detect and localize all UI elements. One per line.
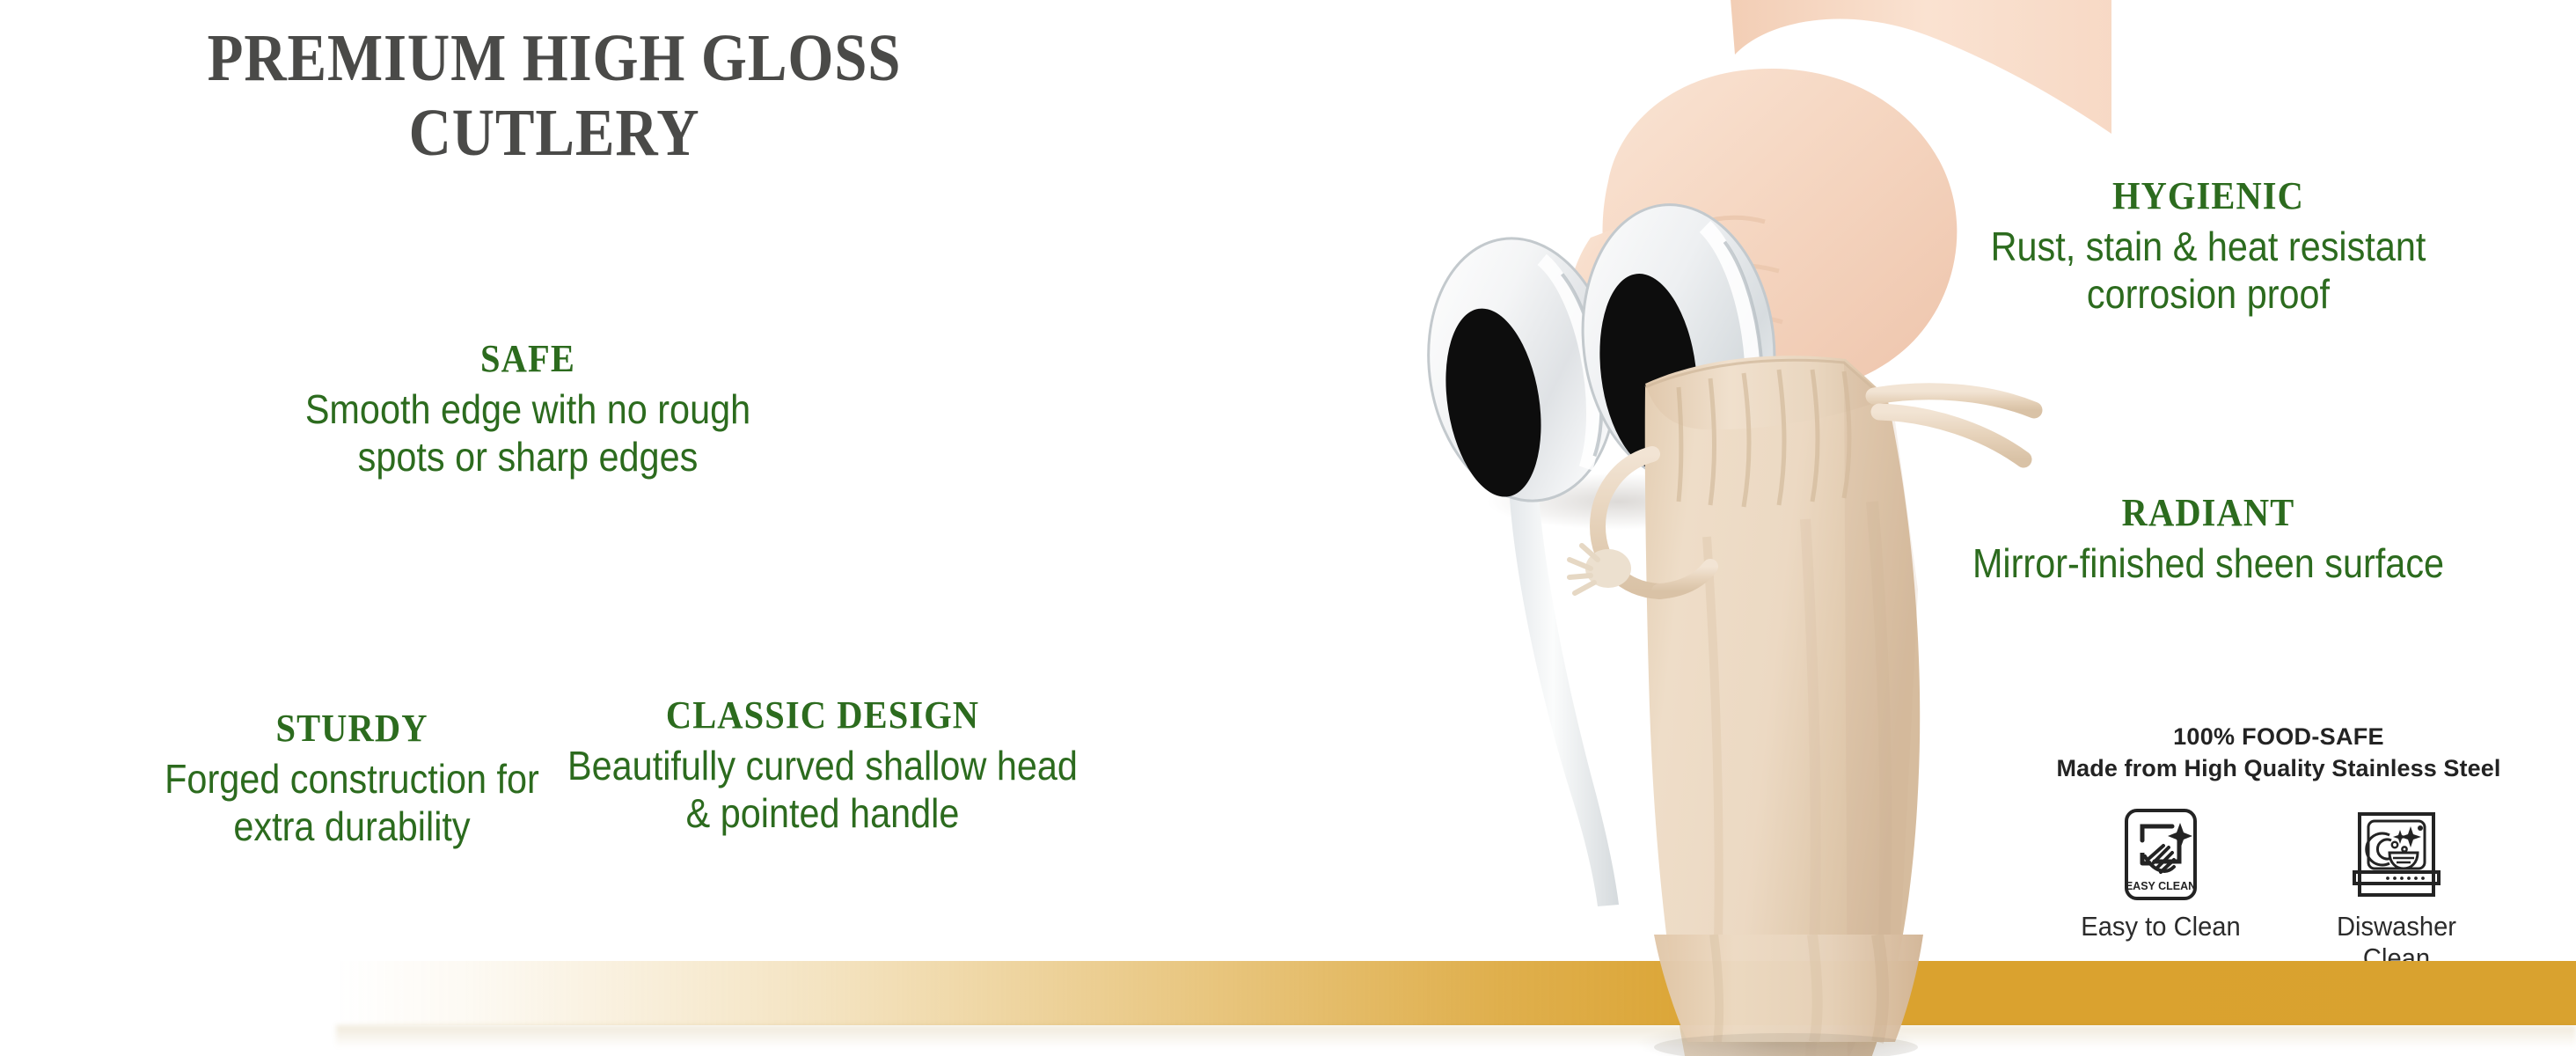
- easy-clean-icon: EASY CLEAN: [2073, 807, 2249, 902]
- food-safe-badge: 100% FOOD-SAFE Made from High Quality St…: [2015, 723, 2543, 974]
- feature-radiant-title: RADIANT: [1877, 493, 2540, 533]
- feature-radiant-body: Mirror-finished sheen surface: [1884, 540, 2533, 587]
- feature-hygienic-title: HYGIENIC: [1889, 176, 2528, 216]
- bottom-gold-band: [336, 961, 2576, 1025]
- easy-clean-icon-text: EASY CLEAN: [2126, 880, 2196, 892]
- feature-classic-design-title: CLASSIC DESIGN: [446, 695, 1199, 736]
- badge-item-easy-clean: EASY CLEAN Easy to Clean: [2073, 807, 2249, 974]
- feature-hygienic: HYGIENIC Rust, stain & heat resistant co…: [1861, 176, 2556, 318]
- feature-safe: SAFE Smooth edge with no rough spots or …: [211, 339, 845, 480]
- badge-label-easy-clean: Easy to Clean: [2078, 911, 2243, 942]
- bottom-gold-band-shadow: [336, 1025, 2576, 1048]
- feature-safe-title: SAFE: [237, 339, 819, 379]
- feature-classic-design: CLASSIC DESIGN Beautifully curved shallo…: [413, 695, 1232, 837]
- badge-headline: 100% FOOD-SAFE: [2015, 723, 2543, 751]
- feature-classic-design-body: Beautifully curved shallow head & pointe…: [455, 743, 1191, 837]
- badge-icon-row: EASY CLEAN Easy to Clean: [2015, 807, 2543, 974]
- feature-safe-body: Smooth edge with no rough spots or sharp…: [243, 386, 813, 480]
- feature-radiant: RADIANT Mirror-finished sheen surface: [1848, 493, 2569, 588]
- infographic-canvas: PREMIUM HIGH GLOSS CUTLERY: [0, 0, 2576, 1056]
- badge-subheadline: Made from High Quality Stainless Steel: [2015, 755, 2543, 782]
- feature-hygienic-body: Rust, stain & heat resistant corrosion p…: [1896, 224, 2521, 318]
- dishwasher-clean-icon: [2309, 807, 2485, 902]
- badge-item-dishwasher-clean: Diswasher Clean: [2309, 807, 2485, 974]
- page-title: PREMIUM HIGH GLOSS CUTLERY: [98, 21, 1011, 171]
